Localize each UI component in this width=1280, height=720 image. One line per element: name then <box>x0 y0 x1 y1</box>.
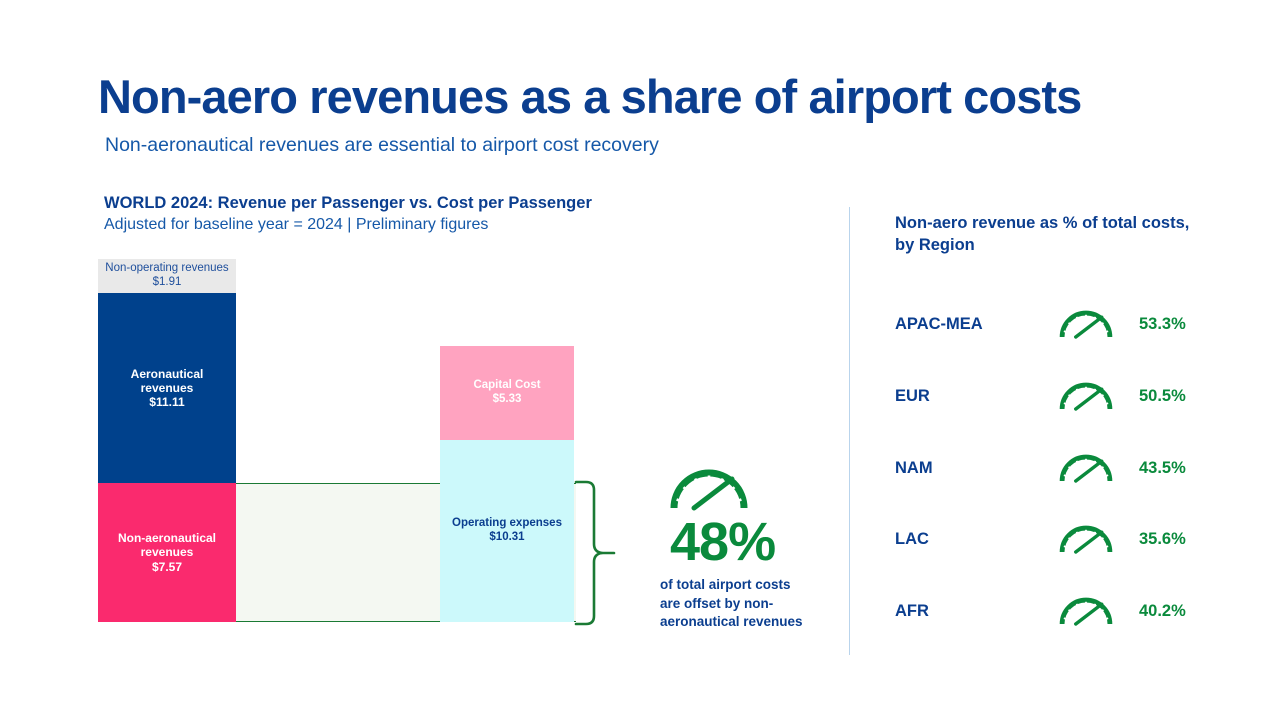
offset-description-line2: are offset by non- <box>660 595 840 613</box>
segment-label-line1: Aeronautical <box>131 367 204 381</box>
gauge-icon <box>1055 452 1117 484</box>
region-row-eur: EUR 50.5% <box>895 376 1215 416</box>
slide-canvas: Non-aero revenues as a share of airport … <box>0 0 1280 720</box>
segment-label: Non-operating revenues <box>105 262 228 276</box>
region-value: 43.5% <box>1117 459 1215 478</box>
gauge-icon <box>1055 308 1117 340</box>
segment-operating-expenses: Operating expenses $10.31 <box>440 440 574 622</box>
region-value: 35.6% <box>1117 530 1215 549</box>
segment-non-aeronautical-revenues: Non-aeronautical revenues $7.57 <box>98 483 236 622</box>
region-label: NAM <box>895 459 1055 478</box>
segment-value: $11.11 <box>149 395 184 409</box>
segment-label: Capital Cost <box>473 379 540 393</box>
segment-label-line2: revenues <box>141 545 194 559</box>
segment-non-operating-revenues: Non-operating revenues $1.91 <box>98 259 236 293</box>
region-value: 50.5% <box>1117 387 1215 406</box>
region-label: AFR <box>895 602 1055 621</box>
gauge-icon <box>668 466 840 517</box>
region-value: 53.3% <box>1117 315 1215 334</box>
revenue-bar: Non-operating revenues $1.91 Aeronautica… <box>98 259 236 622</box>
segment-label: Operating expenses <box>452 517 562 531</box>
gauge-icon <box>1055 523 1117 555</box>
region-label: LAC <box>895 530 1055 549</box>
gauge-icon <box>1055 595 1117 627</box>
region-label: EUR <box>895 387 1055 406</box>
segment-aeronautical-revenues: Aeronautical revenues $11.11 <box>98 293 236 483</box>
offset-percent: 48% <box>670 517 840 568</box>
segment-value: $10.31 <box>489 531 524 545</box>
cost-bar: Capital Cost $5.33 Operating expenses $1… <box>440 346 574 622</box>
region-row-nam: NAM 43.5% <box>895 448 1215 488</box>
region-panel-title: Non-aero revenue as % of total costs, by… <box>895 212 1205 257</box>
segment-capital-cost: Capital Cost $5.33 <box>440 346 574 440</box>
offset-brace <box>572 478 616 628</box>
region-row-afr: AFR 40.2% <box>895 591 1215 631</box>
segment-label-line2: revenues <box>141 381 194 395</box>
gauge-icon <box>1055 380 1117 412</box>
offset-callout: 48% of total airport costs are offset by… <box>660 466 840 631</box>
region-panel: Non-aero revenue as % of total costs, by… <box>895 212 1225 257</box>
region-label: APAC-MEA <box>895 315 1055 334</box>
offset-description-line3: aeronautical revenues <box>660 613 840 631</box>
segment-label-line1: Non-aeronautical <box>118 531 216 545</box>
segment-value: $1.91 <box>153 276 182 290</box>
stacked-bar-chart: Non-operating revenues $1.91 Aeronautica… <box>0 0 880 720</box>
region-row-lac: LAC 35.6% <box>895 519 1215 559</box>
region-row-apac-mea: APAC-MEA 53.3% <box>895 304 1215 344</box>
offset-description-line1: of total airport costs <box>660 576 840 594</box>
offset-description: of total airport costs are offset by non… <box>660 576 840 631</box>
region-value: 40.2% <box>1117 602 1215 621</box>
segment-value: $7.57 <box>152 560 182 574</box>
segment-value: $5.33 <box>493 393 522 407</box>
vertical-divider <box>849 207 850 655</box>
